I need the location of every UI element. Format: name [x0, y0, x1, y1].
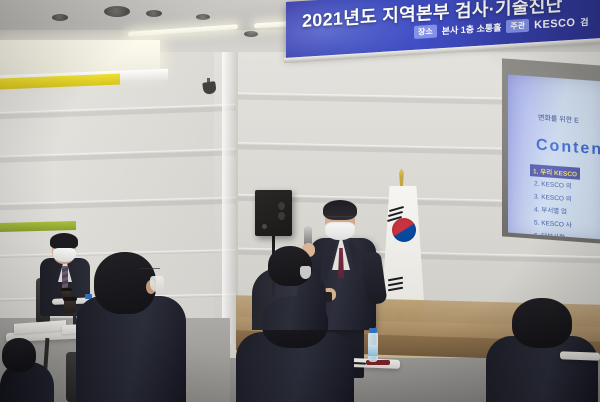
speaker-led-icon	[262, 224, 267, 229]
downlight	[104, 6, 130, 17]
light-cove	[0, 40, 160, 74]
banner-place-value: 본사 1층 소통홀	[442, 20, 502, 37]
side-table	[560, 351, 600, 361]
face-mask	[150, 276, 164, 292]
downlight	[52, 14, 68, 21]
audience-head	[2, 338, 36, 372]
flag-trigram-bar	[388, 277, 403, 282]
banner-host-value: 검	[580, 15, 588, 29]
korean-flag	[382, 186, 424, 318]
bottle-cap	[369, 328, 377, 333]
coffee-cup	[64, 300, 76, 313]
audience-tie	[62, 266, 68, 290]
speaker-tweeter	[278, 202, 285, 210]
speaker-driver	[278, 212, 285, 220]
eyeglasses-icon	[140, 268, 160, 275]
bottle-label	[368, 345, 378, 356]
banner-host-chip: 주관	[506, 19, 529, 33]
kesco-logo: KESCO	[534, 16, 575, 31]
audience-head	[512, 298, 572, 348]
face-mask	[325, 222, 355, 240]
face-mask	[300, 266, 311, 279]
flag-trigram-bar	[388, 287, 403, 292]
projector-light-spill	[492, 58, 600, 248]
downlight	[146, 10, 162, 17]
banner-place-chip: 장소	[414, 25, 437, 39]
downlight	[196, 14, 210, 20]
conference-photo: 2021년도 지역본부 검사·기술진단 장소 본사 1층 소통홀 주관 KESC…	[0, 0, 600, 402]
downlight	[244, 31, 258, 37]
cup-lid	[61, 288, 72, 291]
cup-lid	[63, 297, 77, 301]
eyeglasses-icon	[327, 216, 353, 223]
flag-trigram-bar	[388, 282, 403, 287]
audience-hair	[50, 233, 78, 249]
pa-loudspeaker	[255, 190, 292, 236]
face-mask	[53, 248, 76, 262]
